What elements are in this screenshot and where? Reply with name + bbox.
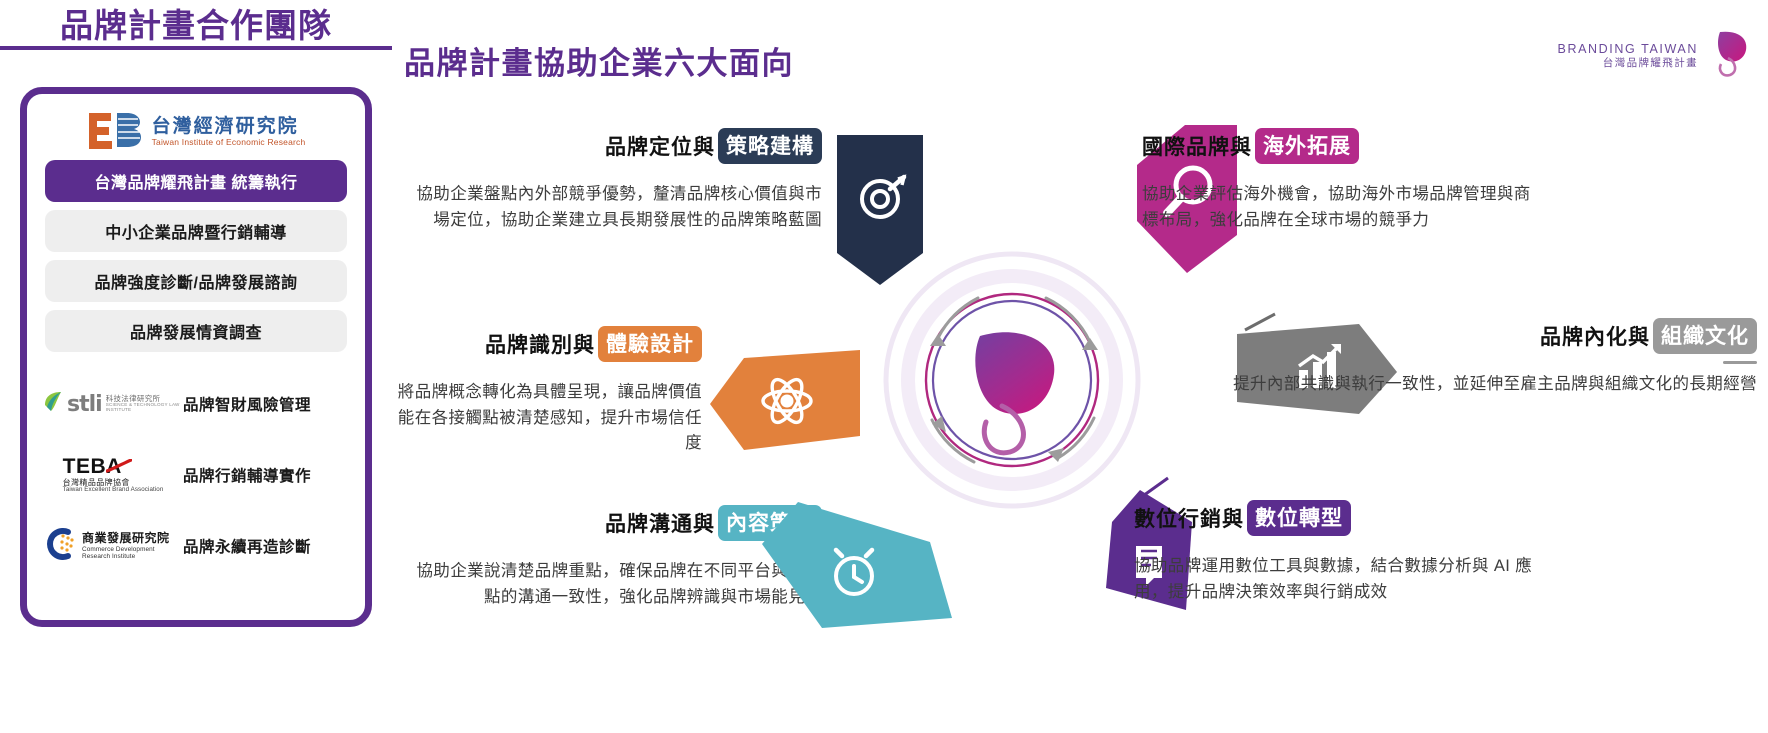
block-title-plain: 品牌定位與	[605, 131, 715, 161]
block-head: 品牌定位與 策略建構	[402, 128, 822, 164]
brand-logo-en: BRANDING TAIWAN	[1558, 42, 1698, 57]
block-title-badge: 海外拓展	[1255, 128, 1359, 164]
block-title-badge: 數位轉型	[1247, 500, 1351, 536]
block-brand-positioning: 品牌定位與 策略建構 協助企業盤點內外部競爭優勢，釐清品牌核心價值與市場定位，協…	[402, 128, 822, 233]
lead-org-card: 台灣經濟研究院 Taiwan Institute of Economic Res…	[33, 100, 359, 364]
block-brand-internalization: 品牌內化與 組織文化 提升內部共識與執行一致性，並延伸至雇主品牌與組織文化的長期…	[1152, 318, 1757, 398]
partner-sidebar: 品牌計畫合作團隊 台灣經濟研究院 Taiwan Institute of Eco…	[0, 0, 392, 733]
tier-item-2[interactable]: 品牌強度診斷/品牌發展諮詢	[45, 260, 347, 302]
tier-item-3[interactable]: 品牌發展情資調查	[45, 310, 347, 352]
partner-label-stli: 品牌智財風險管理	[183, 393, 311, 415]
partner-label-cdri: 品牌永續再造診斷	[183, 535, 311, 557]
branding-taiwan-logo: BRANDING TAIWAN 台灣品牌耀飛計畫	[1558, 28, 1750, 83]
teba-swoosh-icon	[106, 459, 132, 478]
block-head: 品牌內化與 組織文化	[1152, 318, 1757, 354]
block-body: 協助企業評估海外機會，協助海外市場品牌管理與商標布局，強化品牌在全球市場的競爭力	[1142, 182, 1542, 233]
block-body: 將品牌概念轉化為具體呈現，讓品牌價值能在各接觸點被清楚感知，提升市場信任度	[392, 380, 702, 457]
block-brand-communication: 品牌溝通與 內容策略 協助企業說清楚品牌重點，確保品牌在不同平台與接觸點的溝通一…	[402, 505, 822, 610]
block-title-badge: 組織文化	[1653, 318, 1757, 354]
sidebar-title: 品牌計畫合作團隊	[60, 0, 332, 47]
block-head: 品牌溝通與 內容策略	[402, 505, 822, 541]
block-digital-marketing: 數位行銷與 數位轉型 協助品牌運用數位工具與數據，結合數據分析與 AI 應用，提…	[1134, 500, 1554, 605]
cdri-name-en: Commerce Development Research Institute	[82, 546, 183, 560]
block-body: 提升內部共識與執行一致性，並延伸至雇主品牌與組織文化的長期經營	[1152, 372, 1757, 398]
sidebar-frame: 台灣經濟研究院 Taiwan Institute of Economic Res…	[20, 87, 372, 627]
block-international-brand: 國際品牌與 海外拓展 協助企業評估海外機會，協助海外市場品牌管理與商標布局，強化…	[1142, 128, 1542, 233]
lead-org-name-cn: 台灣經濟研究院	[152, 117, 306, 136]
block-title-plain: 數位行銷與	[1134, 503, 1244, 533]
lead-org-name-en: Taiwan Institute of Economic Research	[152, 138, 306, 147]
block-body: 協助企業說清楚品牌重點，確保品牌在不同平台與接觸點的溝通一致性，強化品牌辨識與市…	[402, 559, 822, 610]
tier-item-0[interactable]: 台灣品牌耀飛計畫 統籌執行	[45, 160, 347, 202]
sidebar-title-bar: 品牌計畫合作團隊	[0, 0, 392, 50]
block-body: 協助企業盤點內外部競爭優勢，釐清品牌核心價值與市場定位，協助企業建立具長期發展性…	[402, 182, 822, 233]
block-head: 國際品牌與 海外拓展	[1142, 128, 1542, 164]
block-title-plain: 品牌識別與	[485, 329, 595, 359]
page-title: 品牌計畫協助企業六大面向	[404, 38, 794, 83]
stli-name-en: SCIENCE & TECHNOLOGY LAW INSTITUTE	[106, 403, 183, 413]
clock-icon-tag	[762, 478, 952, 633]
cdri-logo-icon	[43, 527, 77, 566]
block-title-badge: 體驗設計	[598, 326, 702, 362]
block-brand-identity: 品牌識別與 體驗設計 將品牌概念轉化為具體呈現，讓品牌價值能在各接觸點被清楚感知…	[392, 326, 702, 457]
teba-name-en: Taiwan Excellent Brand Association	[63, 487, 164, 494]
stli-wordmark: stli	[67, 392, 102, 417]
atom-icon-tag	[710, 350, 860, 465]
cdri-name-cn: 商業發展研究院	[82, 532, 183, 545]
main-panel: 品牌計畫協助企業六大面向 BRANDING TAIWAN 台灣品牌耀飛計畫	[392, 0, 1768, 733]
block-body: 協助品牌運用數位工具與數據，結合數據分析與 AI 應用，提升品牌決策效率與行銷成…	[1134, 554, 1554, 605]
block-head: 數位行銷與 數位轉型	[1134, 500, 1554, 536]
block-rule	[1723, 361, 1757, 364]
block-title-plain: 國際品牌與	[1142, 131, 1252, 161]
brand-logo-cn: 台灣品牌耀飛計畫	[1603, 57, 1698, 70]
cdri-logo: 商業發展研究院 Commerce Development Research In…	[43, 527, 183, 566]
block-rule	[1142, 171, 1176, 174]
tier-logo-icon	[87, 110, 145, 155]
leaf-logo-icon	[1706, 28, 1750, 83]
partner-card-cdri[interactable]: 商業發展研究院 Commerce Development Research In…	[33, 515, 359, 577]
stli-logo: stli 科技法律研究所 SCIENCE & TECHNOLOGY LAW IN…	[43, 391, 183, 418]
partner-label-teba: 品牌行銷輔導實作	[183, 464, 311, 486]
target-icon-tag	[827, 135, 937, 290]
block-title-plain: 品牌溝通與	[605, 508, 715, 538]
tier-logo: 台灣經濟研究院 Taiwan Institute of Economic Res…	[45, 110, 347, 154]
partner-card-teba[interactable]: TEBA 台灣精品品牌協會 Taiwan Excellent Brand Ass…	[33, 444, 359, 506]
stli-logo-icon	[43, 391, 63, 418]
teba-logo: TEBA 台灣精品品牌協會 Taiwan Excellent Brand Ass…	[43, 456, 183, 494]
partner-card-stli[interactable]: stli 科技法律研究所 SCIENCE & TECHNOLOGY LAW IN…	[33, 373, 359, 435]
block-head: 品牌識別與 體驗設計	[392, 326, 702, 362]
block-title-plain: 品牌內化與	[1540, 321, 1650, 351]
tier-item-1[interactable]: 中小企業品牌暨行銷輔導	[45, 210, 347, 252]
block-title-badge: 策略建構	[718, 128, 822, 164]
block-rule	[1134, 543, 1168, 546]
